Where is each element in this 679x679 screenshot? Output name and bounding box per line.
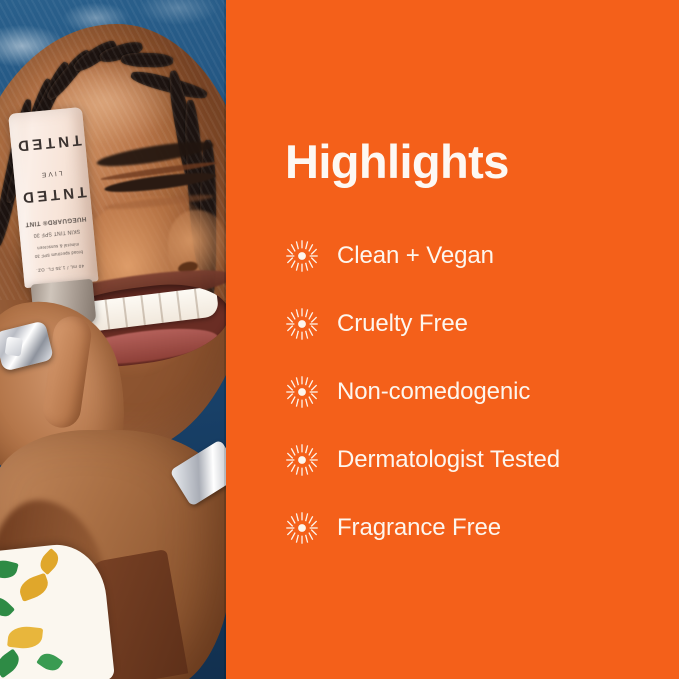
tube-product-name: HUEGUARD® TINT: [24, 215, 86, 228]
tube-brand-sub: LIVE: [14, 167, 88, 181]
list-item-label: Dermatologist Tested: [337, 447, 560, 473]
list-item-label: Clean + Vegan: [337, 243, 494, 269]
list-item: Clean + Vegan: [285, 222, 679, 290]
sunburst-icon: [285, 511, 319, 545]
product-lifestyle-photo: TNTED LIVE TNTED HUEGUARD® TINT SKIN TIN…: [0, 0, 226, 679]
sunburst-icon: [285, 443, 319, 477]
tube-product-volume: 40 mL / 1.35 FL. OZ.: [29, 263, 91, 274]
list-item-label: Cruelty Free: [337, 311, 468, 337]
highlights-list: Clean + Vegan: [285, 222, 679, 562]
tube-brand-main: TNTED: [15, 183, 90, 207]
page-title: Highlights: [285, 138, 509, 185]
list-item: Non-comedogenic: [285, 358, 679, 426]
sunburst-icon: [285, 375, 319, 409]
tube-brand-top: TNTED: [10, 131, 85, 155]
sunburst-icon: [285, 307, 319, 341]
sunburst-icon: [285, 239, 319, 273]
list-item: Cruelty Free: [285, 290, 679, 358]
product-highlights-card: TNTED LIVE TNTED HUEGUARD® TINT SKIN TIN…: [0, 0, 679, 679]
highlights-panel: Highlights: [226, 0, 679, 679]
list-item-label: Non-comedogenic: [337, 379, 530, 405]
list-item: Fragrance Free: [285, 494, 679, 562]
list-item: Dermatologist Tested: [285, 426, 679, 494]
tube-product-type: SKIN TINT SPF 30: [26, 227, 88, 239]
list-item-label: Fragrance Free: [337, 515, 501, 541]
